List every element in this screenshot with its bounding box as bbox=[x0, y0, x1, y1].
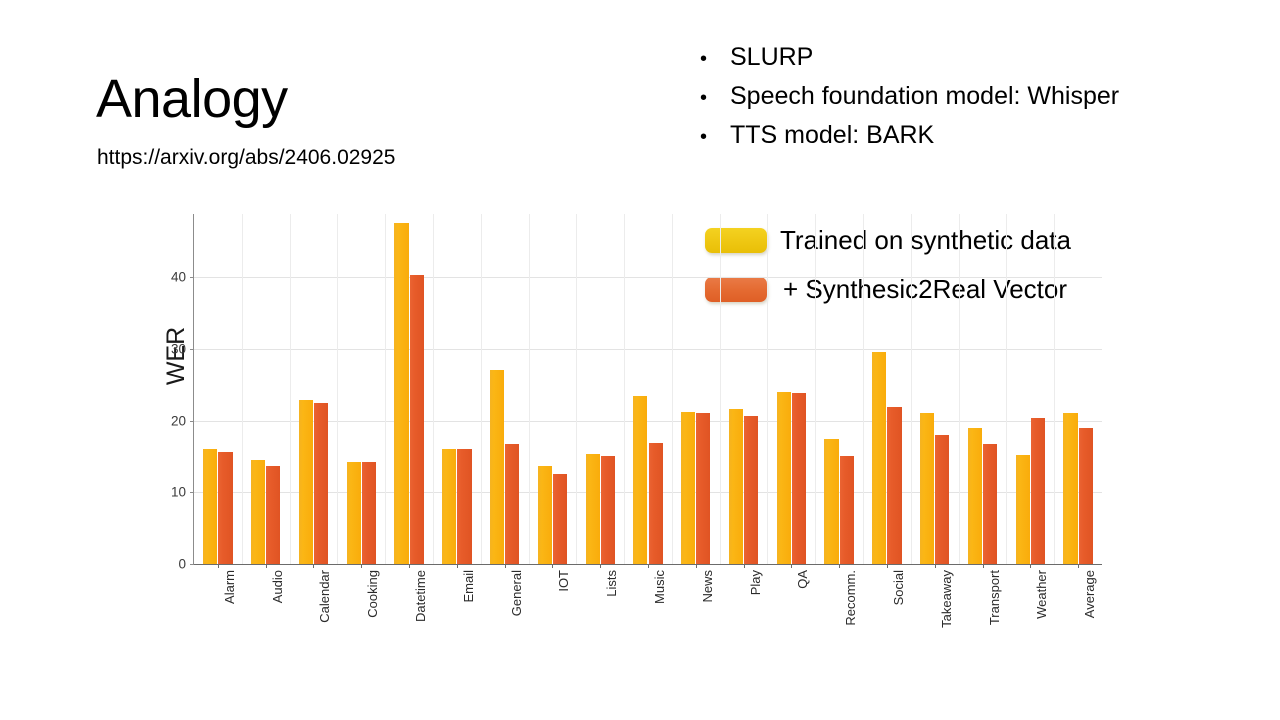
list-item: • TTS model: BARK bbox=[700, 122, 1220, 161]
x-axis-tick-label: Cooking bbox=[366, 570, 379, 618]
gridline-vertical bbox=[576, 214, 577, 564]
list-item-label: SLURP bbox=[730, 44, 813, 72]
bar-datetime-series-1 bbox=[410, 275, 424, 564]
gridline-vertical bbox=[290, 214, 291, 564]
bar-cooking-series-0 bbox=[347, 462, 361, 564]
x-axis-tick-mark bbox=[791, 564, 792, 568]
bar-audio-series-0 bbox=[251, 460, 265, 564]
paper-url-text: https://arxiv.org/abs/2406.02925 bbox=[97, 146, 395, 170]
bar-takeaway-series-0 bbox=[920, 413, 934, 564]
bar-social-series-0 bbox=[872, 352, 886, 564]
bullet-dot-icon: • bbox=[700, 127, 730, 147]
x-axis-tick-mark bbox=[218, 564, 219, 568]
gridline-vertical bbox=[720, 214, 721, 564]
bar-email-series-0 bbox=[442, 449, 456, 564]
gridline-vertical bbox=[911, 214, 912, 564]
bar-music-series-1 bbox=[649, 443, 663, 564]
x-axis-tick-label: IOT bbox=[557, 570, 570, 592]
gridline-vertical bbox=[1006, 214, 1007, 564]
bar-calendar-series-0 bbox=[299, 400, 313, 564]
gridline-vertical bbox=[1054, 214, 1055, 564]
x-axis-tick-mark bbox=[648, 564, 649, 568]
bar-qa-series-0 bbox=[777, 392, 791, 564]
x-axis-tick-label: Social bbox=[892, 570, 905, 605]
bar-takeaway-series-1 bbox=[935, 435, 949, 564]
x-axis-tick-mark bbox=[552, 564, 553, 568]
x-axis-tick-label: Audio bbox=[271, 570, 284, 603]
list-item: • SLURP bbox=[700, 44, 1220, 83]
gridline-horizontal bbox=[194, 421, 1102, 422]
x-axis-tick-label: QA bbox=[796, 570, 809, 589]
gridline-horizontal bbox=[194, 349, 1102, 350]
gridline-vertical bbox=[767, 214, 768, 564]
y-axis-tick-label: 40 bbox=[171, 270, 194, 285]
x-axis-tick-mark bbox=[839, 564, 840, 568]
bar-alarm-series-0 bbox=[203, 449, 217, 564]
bar-recomm-series-0 bbox=[824, 439, 838, 564]
gridline-horizontal bbox=[194, 277, 1102, 278]
x-axis-tick-label: Transport bbox=[988, 570, 1001, 625]
x-axis-tick-mark bbox=[935, 564, 936, 568]
x-axis-tick-mark bbox=[744, 564, 745, 568]
gridline-vertical bbox=[337, 214, 338, 564]
x-axis-tick-mark bbox=[505, 564, 506, 568]
bar-calendar-series-1 bbox=[314, 403, 328, 564]
gridline-vertical bbox=[815, 214, 816, 564]
page-title: Analogy bbox=[96, 72, 288, 126]
gridline-vertical bbox=[529, 214, 530, 564]
gridline-vertical bbox=[624, 214, 625, 564]
x-axis-tick-label: Recomm. bbox=[844, 570, 857, 626]
bar-datetime-series-0 bbox=[394, 223, 408, 564]
bar-news-series-0 bbox=[681, 412, 695, 564]
bar-email-series-1 bbox=[457, 449, 471, 564]
bar-social-series-1 bbox=[887, 407, 901, 564]
x-axis-tick-label: Average bbox=[1083, 570, 1096, 618]
x-axis-tick-label: Calendar bbox=[318, 570, 331, 623]
x-axis-tick-mark bbox=[1078, 564, 1079, 568]
bar-general-series-1 bbox=[505, 444, 519, 564]
x-axis-tick-mark bbox=[361, 564, 362, 568]
bullet-dot-icon: • bbox=[700, 49, 730, 69]
list-item: • Speech foundation model: Whisper bbox=[700, 83, 1220, 122]
x-axis-tick-label: Play bbox=[749, 570, 762, 595]
bar-qa-series-1 bbox=[792, 393, 806, 564]
gridline-vertical bbox=[242, 214, 243, 564]
x-axis-tick-label: Weather bbox=[1035, 570, 1048, 619]
x-axis-tick-label: Email bbox=[462, 570, 475, 603]
bar-audio-series-1 bbox=[266, 466, 280, 564]
list-item-label: Speech foundation model: Whisper bbox=[730, 83, 1119, 111]
x-axis-tick-label: Datetime bbox=[414, 570, 427, 622]
bar-play-series-1 bbox=[744, 416, 758, 564]
x-axis-tick-mark bbox=[696, 564, 697, 568]
bar-iot-series-1 bbox=[553, 474, 567, 564]
x-axis-tick-mark bbox=[409, 564, 410, 568]
x-axis-tick-mark bbox=[983, 564, 984, 568]
gridline-vertical bbox=[672, 214, 673, 564]
gridline-vertical bbox=[863, 214, 864, 564]
y-axis-tick-label: 10 bbox=[171, 485, 194, 500]
x-axis-tick-label: Lists bbox=[605, 570, 618, 597]
plot-area: 010203040AlarmAudioCalendarCookingDateti… bbox=[193, 214, 1102, 565]
wer-bar-chart: WER 010203040AlarmAudioCalendarCookingDa… bbox=[128, 214, 1108, 624]
bar-lists-series-0 bbox=[586, 454, 600, 564]
x-axis-tick-mark bbox=[266, 564, 267, 568]
x-axis-tick-mark bbox=[887, 564, 888, 568]
x-axis-tick-label: General bbox=[510, 570, 523, 616]
bar-recomm-series-1 bbox=[840, 456, 854, 564]
x-axis-tick-mark bbox=[313, 564, 314, 568]
y-axis-tick-label: 30 bbox=[171, 341, 194, 356]
bar-music-series-0 bbox=[633, 396, 647, 564]
x-axis-tick-label: News bbox=[701, 570, 714, 603]
x-axis-tick-label: Takeaway bbox=[940, 570, 953, 628]
bar-iot-series-0 bbox=[538, 466, 552, 564]
bar-weather-series-1 bbox=[1031, 418, 1045, 564]
x-axis-tick-label: Alarm bbox=[223, 570, 236, 604]
gridline-vertical bbox=[481, 214, 482, 564]
list-item-label: TTS model: BARK bbox=[730, 122, 934, 150]
x-axis-tick-mark bbox=[457, 564, 458, 568]
x-axis-tick-mark bbox=[1030, 564, 1031, 568]
bar-news-series-1 bbox=[696, 413, 710, 564]
x-axis-tick-label: Music bbox=[653, 570, 666, 604]
bar-transport-series-0 bbox=[968, 428, 982, 564]
bullet-dot-icon: • bbox=[700, 88, 730, 108]
bar-play-series-0 bbox=[729, 409, 743, 564]
bar-alarm-series-1 bbox=[218, 452, 232, 564]
bar-cooking-series-1 bbox=[362, 462, 376, 564]
bar-average-series-1 bbox=[1079, 428, 1093, 564]
y-axis-tick-label: 20 bbox=[171, 413, 194, 428]
bullet-list: • SLURP • Speech foundation model: Whisp… bbox=[700, 44, 1220, 161]
bar-average-series-0 bbox=[1063, 413, 1077, 564]
bar-weather-series-0 bbox=[1016, 455, 1030, 564]
bar-lists-series-1 bbox=[601, 456, 615, 564]
x-axis-tick-mark bbox=[600, 564, 601, 568]
y-axis-tick-label: 0 bbox=[178, 557, 194, 572]
bar-general-series-0 bbox=[490, 370, 504, 564]
gridline-vertical bbox=[385, 214, 386, 564]
gridline-vertical bbox=[959, 214, 960, 564]
gridline-vertical bbox=[433, 214, 434, 564]
bar-transport-series-1 bbox=[983, 444, 997, 564]
